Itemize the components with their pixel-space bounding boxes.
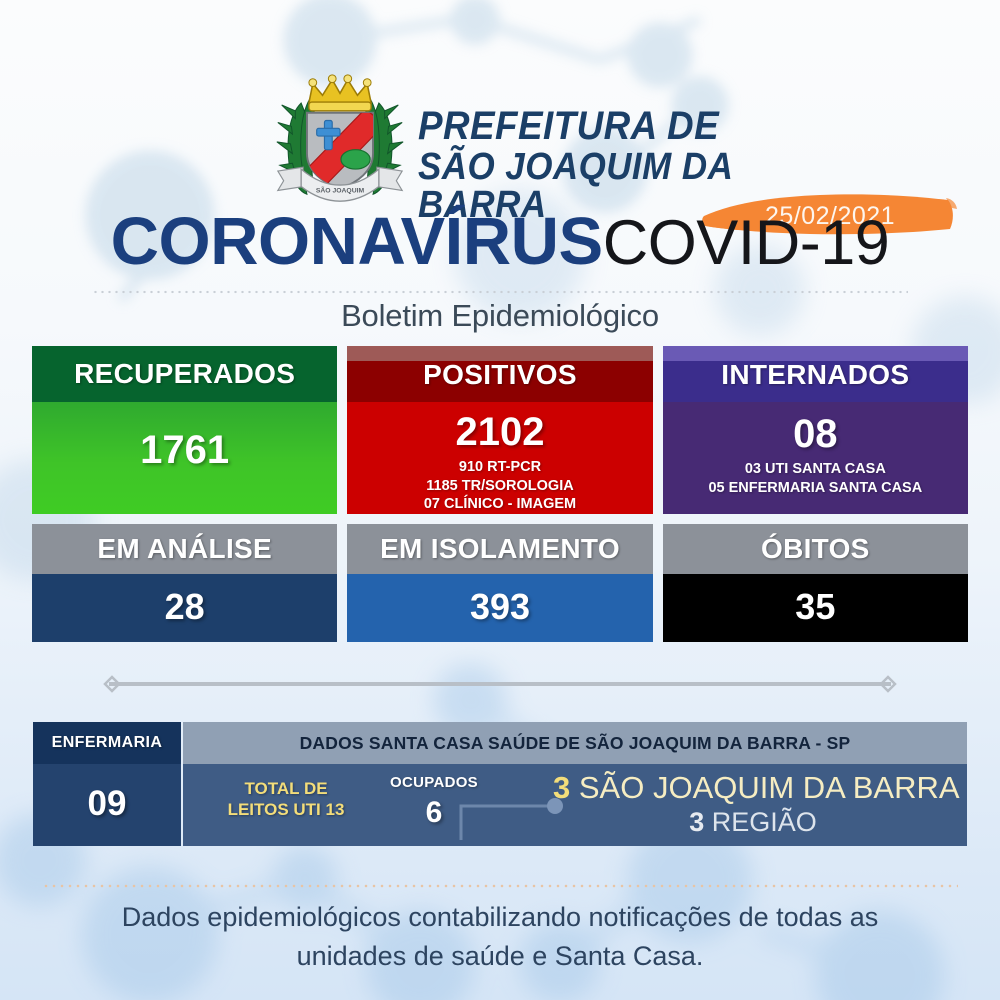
detail-line: 05 ENFERMARIA SANTA CASA bbox=[663, 479, 968, 498]
stat-card-internados: INTERNADOS 08 03 UTI SANTA CASA 05 ENFER… bbox=[663, 346, 968, 514]
breakdown-count-2: 3 bbox=[689, 807, 704, 837]
title-dotted-divider bbox=[92, 290, 908, 294]
page-subtitle: Boletim Epidemiológico bbox=[0, 298, 1000, 334]
detail-line: 07 CLÍNICO - IMAGEM bbox=[347, 495, 652, 514]
santa-casa-title: DADOS SANTA CASA SAÚDE DE SÃO JOAQUIM DA… bbox=[183, 722, 967, 764]
stat-card-positivos: POSITIVOS 2102 910 RT-PCR 1185 TR/SOROLO… bbox=[347, 346, 652, 514]
total-leitos-line-1: TOTAL DE bbox=[211, 778, 361, 799]
enfermaria-value: 09 bbox=[33, 764, 181, 824]
stat-value-recuperados: 1761 bbox=[32, 402, 337, 470]
footer-note-line-2: unidades de saúde e Santa Casa. bbox=[0, 937, 1000, 976]
detail-line: 910 RT-PCR bbox=[347, 458, 652, 477]
enfermaria-block: ENFERMARIA 09 bbox=[33, 722, 181, 846]
title-covid19: COVID-19 bbox=[603, 208, 890, 278]
detail-line: 1185 TR/SOROLOGIA bbox=[347, 477, 652, 496]
stat-row-2: EM ANÁLISE 28 EM ISOLAMENTO 393 ÓBITOS 3… bbox=[32, 524, 968, 642]
page-header: SÃO JOAQUIM PREFEITURA DE SÃO JOAQUIM DA… bbox=[0, 34, 1000, 184]
stat-label-em-isolamento: EM ISOLAMENTO bbox=[347, 524, 652, 574]
stat-label-positivos: POSITIVOS bbox=[423, 359, 577, 390]
footer-note-line-1: Dados epidemiológicos contabilizando not… bbox=[0, 898, 1000, 937]
stat-details-positivos: 910 RT-PCR 1185 TR/SOROLOGIA 07 CLÍNICO … bbox=[347, 458, 652, 514]
page-title: CORONAVÍRUSCOVID-19 bbox=[0, 203, 1000, 280]
stat-card-em-isolamento: EM ISOLAMENTO 393 bbox=[347, 524, 652, 642]
title-coronavirus: CORONAVÍRUS bbox=[111, 204, 603, 279]
enfermaria-label: ENFERMARIA bbox=[33, 722, 181, 764]
breakdown-count-1: 3 bbox=[553, 770, 570, 805]
stat-label-obitos: ÓBITOS bbox=[663, 524, 968, 574]
stat-value-em-isolamento: 393 bbox=[347, 574, 652, 625]
stat-value-em-analise: 28 bbox=[32, 574, 337, 625]
stat-label-recuperados: RECUPERADOS bbox=[32, 346, 337, 402]
svg-text:SÃO JOAQUIM: SÃO JOAQUIM bbox=[316, 185, 365, 194]
breakdown-place-1: SÃO JOAQUIM DA BARRA bbox=[579, 770, 960, 805]
footer-dotted-divider bbox=[42, 884, 958, 888]
stat-row-1: RECUPERADOS 1761 POSITIVOS 2102 910 RT-P… bbox=[32, 346, 968, 514]
breakdown-line-2: 3 REGIÃO bbox=[553, 809, 953, 836]
detail-line: 03 UTI SANTA CASA bbox=[663, 460, 968, 479]
breakdown-place-2: REGIÃO bbox=[712, 807, 817, 837]
stat-value-obitos: 35 bbox=[663, 574, 968, 625]
stat-value-internados: 08 bbox=[663, 402, 968, 454]
santa-casa-data-block: DADOS SANTA CASA SAÚDE DE SÃO JOAQUIM DA… bbox=[183, 722, 967, 846]
stat-label-em-analise: EM ANÁLISE bbox=[32, 524, 337, 574]
santa-casa-panel: ENFERMARIA 09 DADOS SANTA CASA SAÚDE DE … bbox=[33, 722, 967, 846]
footer-note: Dados epidemiológicos contabilizando not… bbox=[0, 898, 1000, 976]
coat-of-arms-icon: SÃO JOAQUIM bbox=[272, 70, 408, 206]
total-leitos-uti: TOTAL DE LEITOS UTI 13 bbox=[211, 778, 361, 821]
breakdown-line-1: 3 SÃO JOAQUIM DA BARRA bbox=[553, 772, 953, 803]
stat-details-internados: 03 UTI SANTA CASA 05 ENFERMARIA SANTA CA… bbox=[663, 460, 968, 497]
prefeitura-line-1: PREFEITURA DE bbox=[418, 106, 804, 146]
diamond-divider bbox=[95, 672, 905, 696]
stat-value-positivos: 2102 bbox=[347, 402, 652, 452]
total-leitos-line-2: LEITOS UTI 13 bbox=[211, 799, 361, 820]
stat-card-recuperados: RECUPERADOS 1761 bbox=[32, 346, 337, 514]
statistics-cards: RECUPERADOS 1761 POSITIVOS 2102 910 RT-P… bbox=[32, 346, 968, 642]
stat-card-obitos: ÓBITOS 35 bbox=[663, 524, 968, 642]
stat-label-internados: INTERNADOS bbox=[721, 359, 909, 390]
stat-card-em-analise: EM ANÁLISE 28 bbox=[32, 524, 337, 642]
